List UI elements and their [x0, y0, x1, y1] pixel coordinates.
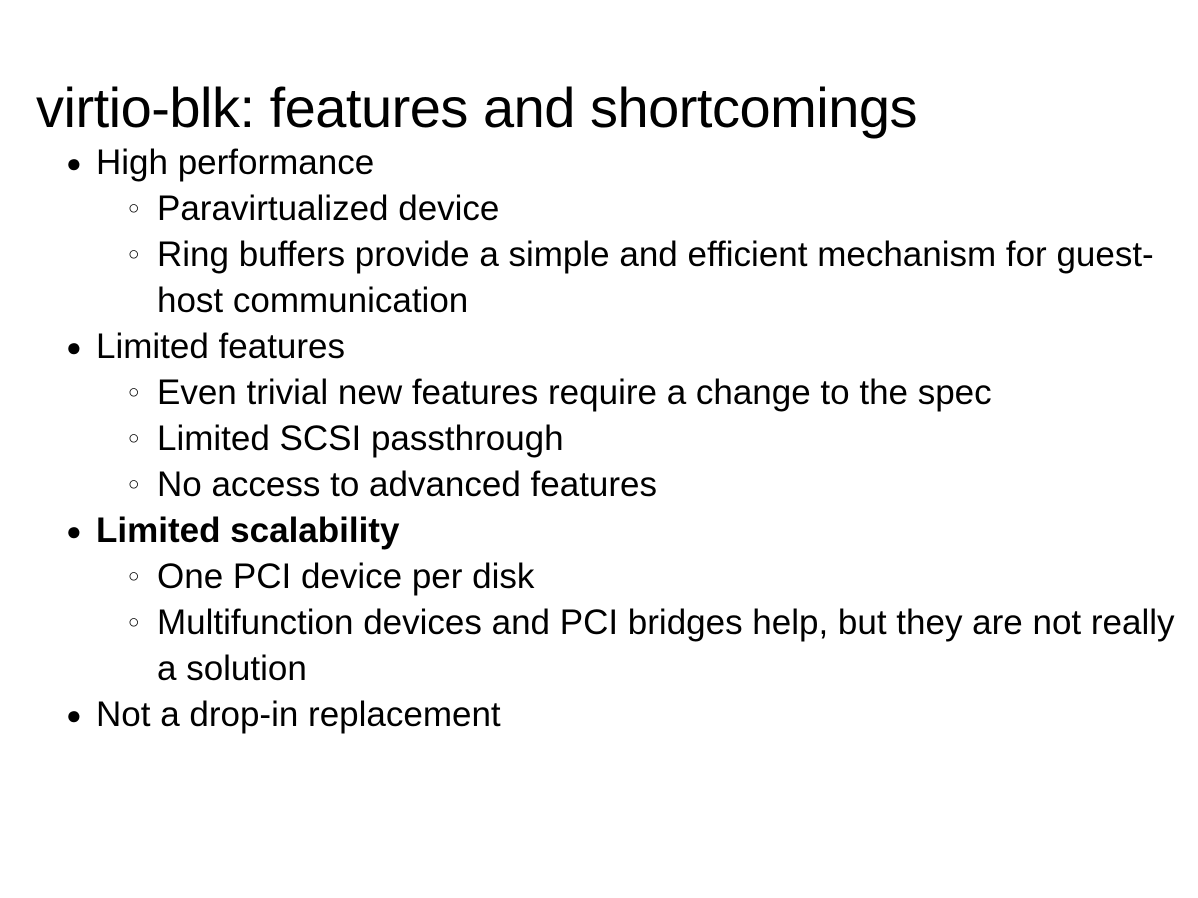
bullet-text: Limited features — [96, 324, 1198, 370]
bullet-item-level-2: ○Paravirtualized device — [0, 186, 1198, 232]
bullet-text: Limited SCSI passthrough — [157, 416, 1198, 462]
bullet-text: Not a drop-in replacement — [96, 692, 1198, 738]
slide-title: virtio-blk: features and shortcomings — [36, 74, 1166, 142]
filled-disc-icon: ● — [66, 324, 86, 370]
bullet-text: Paravirtualized device — [157, 186, 1198, 232]
hollow-circle-icon: ○ — [128, 232, 148, 278]
bullet-text: No access to advanced features — [157, 462, 1198, 508]
bullet-text: Even trivial new features require a chan… — [157, 370, 1198, 416]
bullet-item-level-1: ●Limited scalability — [0, 508, 1198, 554]
hollow-circle-icon: ○ — [128, 186, 148, 232]
bullet-item-level-1: ●High performance — [0, 140, 1198, 186]
hollow-circle-icon: ○ — [128, 554, 148, 600]
slide-canvas: virtio-blk: features and shortcomings ●H… — [0, 0, 1198, 898]
bullet-item-level-2: ○Ring buffers provide a simple and effic… — [0, 232, 1198, 324]
filled-disc-icon: ● — [66, 140, 86, 186]
bullet-item-level-1: ●Not a drop-in replacement — [0, 692, 1198, 738]
bullet-list: ●High performance○Paravirtualized device… — [0, 140, 1198, 738]
bullet-item-level-2: ○Limited SCSI passthrough — [0, 416, 1198, 462]
filled-disc-icon: ● — [66, 692, 86, 738]
bullet-text: High performance — [96, 140, 1198, 186]
hollow-circle-icon: ○ — [128, 600, 148, 646]
bullet-item-level-2: ○No access to advanced features — [0, 462, 1198, 508]
bullet-text: Ring buffers provide a simple and effici… — [157, 232, 1198, 324]
bullet-text: One PCI device per disk — [157, 554, 1198, 600]
hollow-circle-icon: ○ — [128, 416, 148, 462]
bullet-text: Limited scalability — [96, 508, 1198, 554]
filled-disc-icon: ● — [66, 508, 86, 554]
bullet-item-level-2: ○Even trivial new features require a cha… — [0, 370, 1198, 416]
hollow-circle-icon: ○ — [128, 462, 148, 508]
bullet-item-level-1: ●Limited features — [0, 324, 1198, 370]
bullet-text: Multifunction devices and PCI bridges he… — [157, 600, 1198, 692]
bullet-item-level-2: ○One PCI device per disk — [0, 554, 1198, 600]
hollow-circle-icon: ○ — [128, 370, 148, 416]
bullet-item-level-2: ○Multifunction devices and PCI bridges h… — [0, 600, 1198, 692]
